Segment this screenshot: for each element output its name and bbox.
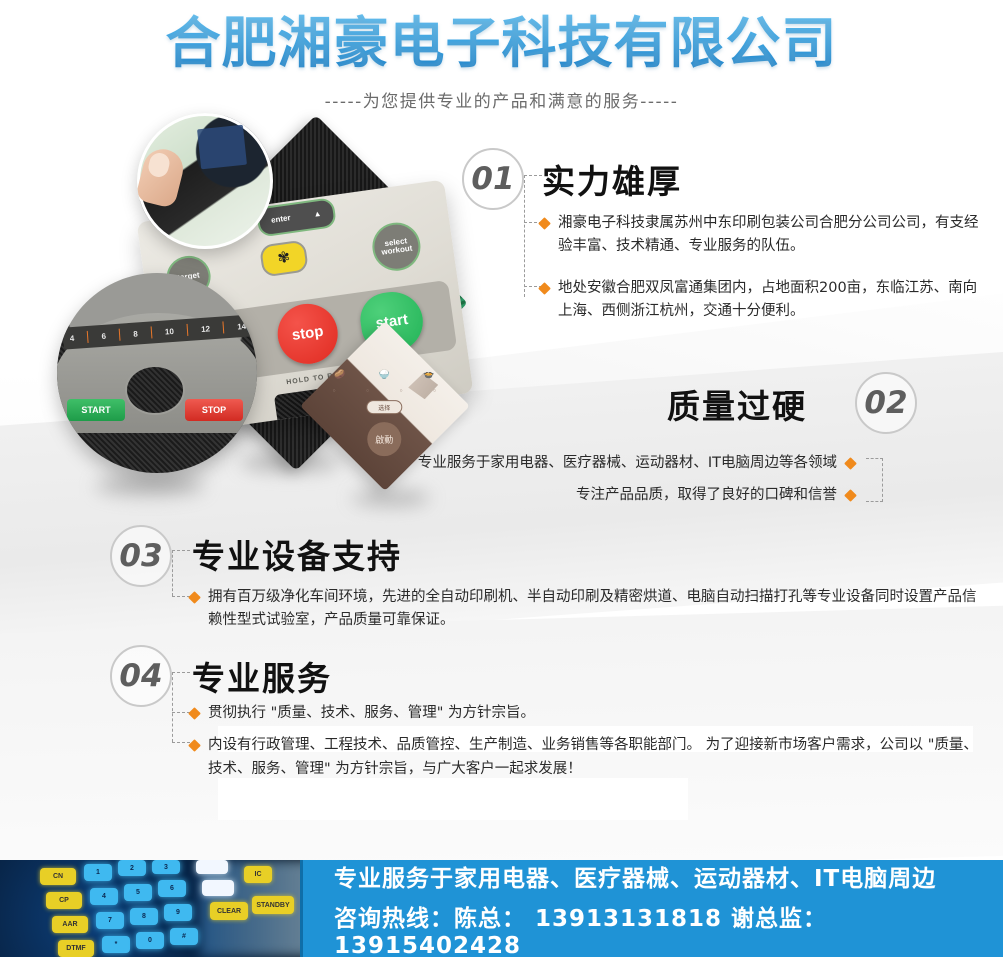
bullet-text: 湘豪电子科技隶属苏州中东印刷包装公司合肥分公司公司，有支经验丰富、技术精通、专业… <box>558 212 990 259</box>
keypad-key-8: 8 <box>130 908 158 925</box>
connector-tick-04a <box>172 672 190 673</box>
keypad-key-blank-1 <box>196 860 228 874</box>
promo-banner-page: 合肥湘豪电子科技有限公司 -----为您提供专业的产品和满意的服务----- e… <box>0 0 1003 957</box>
keypad-key-dtmf: DTMF <box>58 940 94 957</box>
list-item: 拥有百万级净化车间环境，先进的全自动印刷机、半自动印刷及精密烘道、电脑自动扫描打… <box>190 586 980 633</box>
keypad-key-star: * <box>102 936 130 953</box>
section-title-02: 质量过硬 <box>667 380 807 428</box>
keypad-key-blank-2 <box>202 880 234 896</box>
connector-tick-03a <box>172 550 190 551</box>
indicator-dot-icon: ○ <box>400 388 403 396</box>
rice-select-button: 选择 <box>366 400 402 414</box>
connector-bracket-02 <box>866 458 883 502</box>
tick-icon <box>119 329 121 341</box>
list-item: 专业服务于家用电器、医疗器械、运动器材、IT电脑周边等各领域 <box>360 452 855 475</box>
keypad-key-cp: CP <box>46 892 82 909</box>
connector-line-01 <box>524 175 525 297</box>
rice-panel-indicator-dots: ○ ○ ○ ○ <box>317 388 451 396</box>
list-item: 地处安徽合肥双凤富通集团内，占地面积200亩，东临江苏、南向上海、西侧浙江杭州，… <box>540 277 990 324</box>
keypad-key-2: 2 <box>118 860 146 876</box>
section-bullets-03: 拥有百万级净化车间环境，先进的全自动印刷机、半自动印刷及精密烘道、电脑自动扫描打… <box>190 586 980 642</box>
list-item: 湘豪电子科技隶属苏州中东印刷包装公司合肥分公司公司，有支经验丰富、技术精通、专业… <box>540 212 990 259</box>
select-workout-key: select workout <box>369 220 423 274</box>
round-panel-hub <box>125 365 185 415</box>
diamond-bullet-icon <box>844 490 857 503</box>
round-panel-num-3: 10 <box>165 326 175 336</box>
keypad-key-6: 6 <box>158 880 186 897</box>
tick-icon <box>87 331 89 343</box>
diamond-bullet-icon <box>844 457 857 470</box>
closeup-blue-film <box>197 125 247 170</box>
round-panel-num-5: 14 <box>237 321 247 331</box>
bullet-text: 拥有百万级净化车间环境，先进的全自动印刷机、半自动印刷及精密烘道、电脑自动扫描打… <box>208 586 980 633</box>
indicator-dot-icon: ○ <box>333 388 336 396</box>
enter-key-arrow-icon: ▲ <box>313 210 322 219</box>
connector-line-04 <box>172 672 173 742</box>
round-membrane-panel: 4 6 8 10 12 14 Pad Controls START STOP <box>57 273 257 473</box>
section-badge-01: 01 <box>462 148 524 210</box>
section-badge-03: 03 <box>110 525 172 587</box>
footer-contact-block: 专业服务于家用电器、医疗器械、运动器材、IT电脑周边 咨询热线：陈总： 1391… <box>300 860 1003 957</box>
list-item: 内设有行政管理、工程技术、品质管控、生产制造、业务销售等各职能部门。 为了迎接新… <box>190 734 990 781</box>
connector-tick-04c <box>172 742 190 743</box>
round-panel-num-0: 4 <box>69 333 74 342</box>
bullet-text: 专注产品品质，取得了良好的口碑和信誉 <box>576 484 837 507</box>
select-key-line2: workout <box>381 245 413 258</box>
section-badge-02: 02 <box>855 372 917 434</box>
keypad-key-7: 7 <box>96 912 124 929</box>
keypad-key-hash: # <box>170 928 198 945</box>
rice-panel-inner: 🥔 🍚 🍲 ○ ○ ○ ○ 选择 啟動 <box>317 360 451 456</box>
list-item: 专注产品品质，取得了良好的口碑和信誉 <box>360 484 855 507</box>
enter-key-label: enter <box>271 214 292 225</box>
footer-bar: CN CP AAR DTMF 1 2 3 4 5 6 7 8 9 * 0 # I… <box>0 860 1003 957</box>
round-panel-stop-key: STOP <box>185 399 243 421</box>
bullet-text: 内设有行政管理、工程技术、品质管控、生产制造、业务销售等各职能部门。 为了迎接新… <box>208 734 990 781</box>
indicator-dot-icon: ○ <box>366 388 369 396</box>
keypad-key-standby: STANDBY <box>252 896 294 914</box>
keypad-key-5: 5 <box>124 884 152 901</box>
keypad-key-aar: AAR <box>52 916 88 933</box>
page-title: 合肥湘豪电子科技有限公司 <box>0 10 1003 77</box>
section-bullets-04: 贯彻执行 "质量、技术、服务、管理" 为方针宗旨。 内设有行政管理、工程技术、品… <box>190 702 990 790</box>
footer-hotline-line: 咨询热线：陈总： 13913131818 谢总监： 13915402428 <box>334 899 1003 957</box>
footer-divider <box>300 860 303 957</box>
rice-icon-0: 🥔 <box>334 369 345 380</box>
footer-services-line: 专业服务于家用电器、医疗器械、运动器材、IT电脑周边 <box>334 859 1003 893</box>
rice-icon-2: 🍲 <box>423 369 434 380</box>
connector-line-03 <box>172 550 173 596</box>
bullet-text: 专业服务于家用电器、医疗器械、运动器材、IT电脑周边等各领域 <box>418 452 837 475</box>
rice-icon-1: 🍚 <box>379 369 390 380</box>
fan-key: ✾ <box>259 239 309 277</box>
keypad-key-cn: CN <box>40 868 76 885</box>
header: 合肥湘豪电子科技有限公司 -----为您提供专业的产品和满意的服务----- <box>0 0 1003 112</box>
tick-icon <box>223 321 225 333</box>
keypad-key-1: 1 <box>84 864 112 881</box>
diamond-bullet-icon <box>188 707 201 720</box>
list-item: 贯彻执行 "质量、技术、服务、管理" 为方针宗旨。 <box>190 702 990 725</box>
bullet-text: 贯彻执行 "质量、技术、服务、管理" 为方针宗旨。 <box>208 702 535 725</box>
diamond-bullet-icon <box>188 740 201 753</box>
round-panel-num-2: 8 <box>133 329 138 338</box>
section-title-01: 实力雄厚 <box>542 155 682 203</box>
connector-tick-01a <box>524 175 542 176</box>
keypad-photo: CN CP AAR DTMF 1 2 3 4 5 6 7 8 9 * 0 # I… <box>0 860 300 957</box>
round-panel-start-key: START <box>67 399 125 421</box>
section-bullets-02: 专业服务于家用电器、医疗器械、运动器材、IT电脑周边等各领域 专注产品品质，取得… <box>360 452 855 517</box>
keypad-key-0: 0 <box>136 932 164 949</box>
keypad-key-9: 9 <box>164 904 192 921</box>
keypad-key-3: 3 <box>152 860 180 874</box>
membrane-peel-closeup-photo <box>137 113 273 249</box>
diamond-bullet-icon <box>538 282 551 295</box>
keypad-key-clear: CLEAR <box>210 902 248 920</box>
page-tagline: -----为您提供专业的产品和满意的服务----- <box>0 87 1003 112</box>
tick-icon <box>187 324 189 336</box>
round-panel-num-4: 12 <box>201 324 211 334</box>
indicator-dot-icon: ○ <box>433 388 436 396</box>
section-title-03: 专业设备支持 <box>192 530 402 578</box>
keypad-key-4: 4 <box>90 888 118 905</box>
section-bullets-01: 湘豪电子科技隶属苏州中东印刷包装公司合肥分公司公司，有支经验丰富、技术精通、专业… <box>540 212 990 333</box>
keypad-key-ic: IC <box>244 866 272 883</box>
bullet-text: 地处安徽合肥双凤富通集团内，占地面积200亩，东临江苏、南向上海、西侧浙江杭州，… <box>558 277 990 324</box>
diamond-bullet-icon <box>188 591 201 604</box>
round-panel-num-1: 6 <box>101 331 106 340</box>
section-badge-04: 04 <box>110 645 172 707</box>
section-title-04: 专业服务 <box>192 652 332 700</box>
tick-icon <box>150 326 152 338</box>
diamond-bullet-icon <box>538 217 551 230</box>
